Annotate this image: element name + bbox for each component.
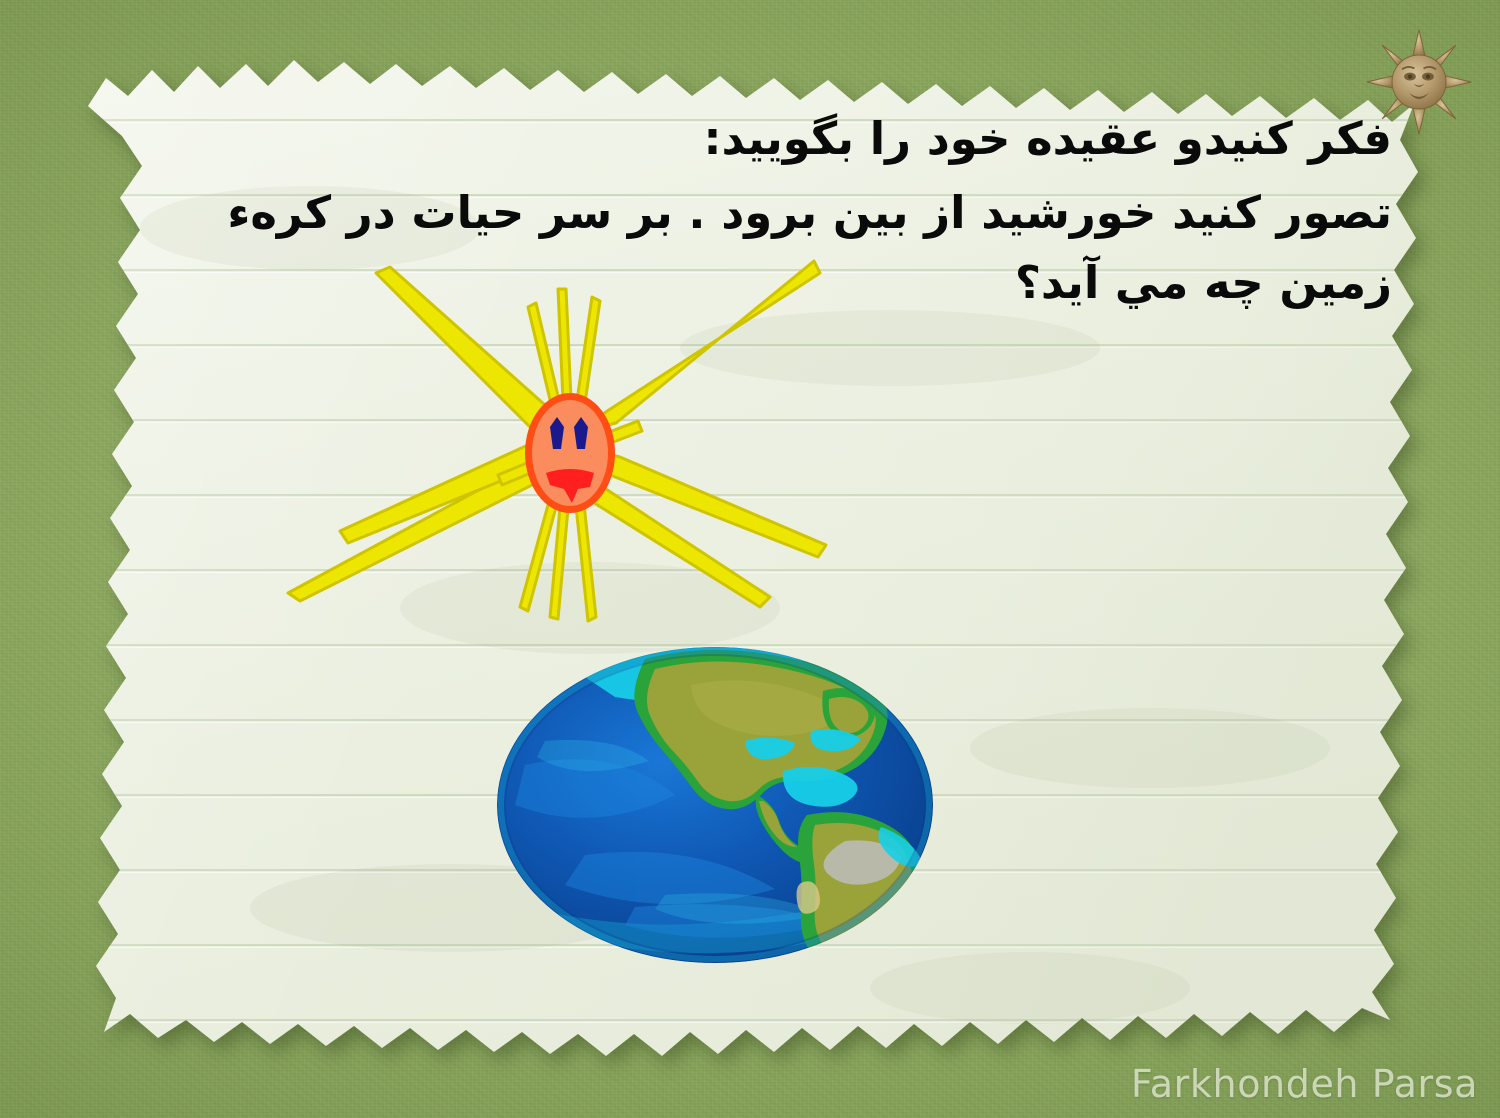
slide-content: فکر کنیدو عقیده خود را بگویید: تصور کنید…	[140, 0, 1500, 1010]
author-credit: Farkhondeh Parsa	[1131, 1062, 1478, 1106]
body-text-line-2: تصور کنید خورشید از بین برود . بر سر حیا…	[170, 178, 1392, 248]
earth-globe-illustration	[495, 645, 935, 965]
smiling-sun-illustration	[168, 245, 868, 645]
slide-canvas: فکر کنیدو عقیده خود را بگویید: تصور کنید…	[0, 0, 1500, 1118]
body-text-line-1: فکر کنیدو عقیده خود را بگویید:	[170, 104, 1392, 174]
